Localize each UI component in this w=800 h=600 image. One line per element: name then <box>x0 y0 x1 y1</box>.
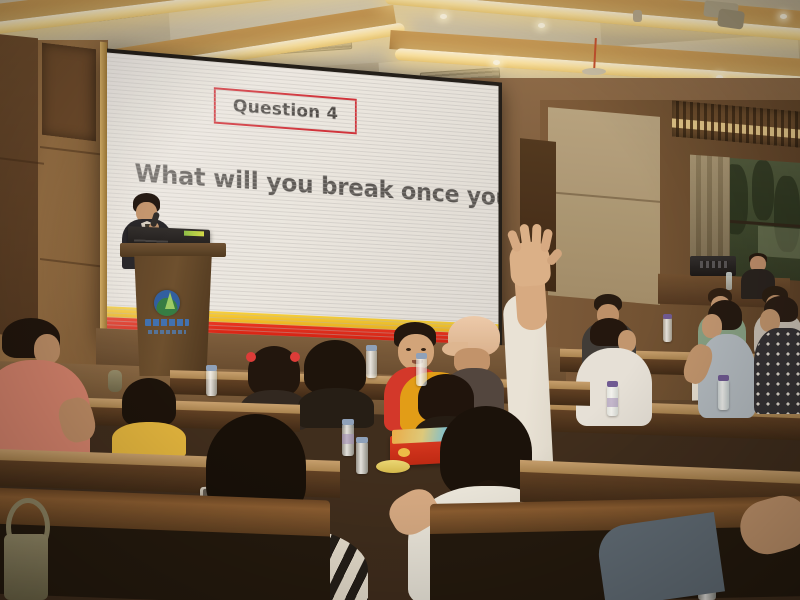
yellow-plate[interactable] <box>376 460 410 473</box>
downlight-icon <box>538 23 545 28</box>
hair-tie <box>290 352 300 362</box>
question-label: Question 4 <box>233 96 338 125</box>
water-bottle[interactable] <box>718 380 729 410</box>
laptop-sticker <box>184 231 204 237</box>
foliage <box>752 160 774 222</box>
foreground-bench-shadow <box>0 523 330 600</box>
top <box>298 388 374 428</box>
water-bottle[interactable] <box>663 318 672 342</box>
question-label-box: Question 4 <box>214 87 357 134</box>
polkadot-pattern <box>754 330 800 414</box>
lecture-hall-photo: Question 4 What will you break once you … <box>0 0 800 600</box>
av-equipment-panel[interactable] <box>700 261 728 268</box>
bottle-cap <box>607 381 618 387</box>
bottle-cap <box>416 353 427 359</box>
bottle-cap <box>718 375 729 381</box>
bottle-cap <box>366 345 377 351</box>
ceiling-disc <box>582 68 606 75</box>
screen-gold-trim <box>100 42 107 343</box>
podium <box>123 243 223 375</box>
podium-english-text <box>148 330 186 334</box>
water-bottle[interactable] <box>206 370 217 396</box>
bottle-label <box>342 434 354 444</box>
podium-top-surface <box>120 243 226 257</box>
desk-item <box>108 370 122 392</box>
wall-inset-panel <box>42 43 96 142</box>
eye <box>406 348 411 351</box>
bottle-cap <box>663 314 672 319</box>
podium-chinese-text <box>145 319 189 326</box>
projector <box>717 8 745 29</box>
downlight-icon <box>440 14 447 19</box>
water-bottle[interactable] <box>366 350 377 378</box>
water-bottle[interactable] <box>416 358 427 386</box>
bottle-label <box>607 398 618 407</box>
water-bottle[interactable] <box>356 442 368 474</box>
bottle-cap <box>342 419 354 425</box>
bottle-cap <box>206 365 217 371</box>
gift-box-seal <box>398 448 410 457</box>
downlight-icon <box>780 14 787 19</box>
pine-tree-shape-icon <box>165 292 175 309</box>
left-wall-dark-strip <box>0 34 38 338</box>
hair-tie <box>246 352 256 362</box>
bottle-cap <box>356 437 368 443</box>
eye <box>421 348 426 351</box>
right-wall-panel <box>548 107 660 305</box>
podium-body <box>129 256 217 376</box>
question-text: What will you break once you say it? <box>134 158 496 210</box>
water-bottle[interactable] <box>726 272 732 290</box>
shoulder-bag[interactable] <box>4 534 48 600</box>
downlight-icon <box>493 60 500 65</box>
hair <box>304 340 366 394</box>
sprinkler-head <box>633 10 642 22</box>
hair <box>122 378 176 426</box>
